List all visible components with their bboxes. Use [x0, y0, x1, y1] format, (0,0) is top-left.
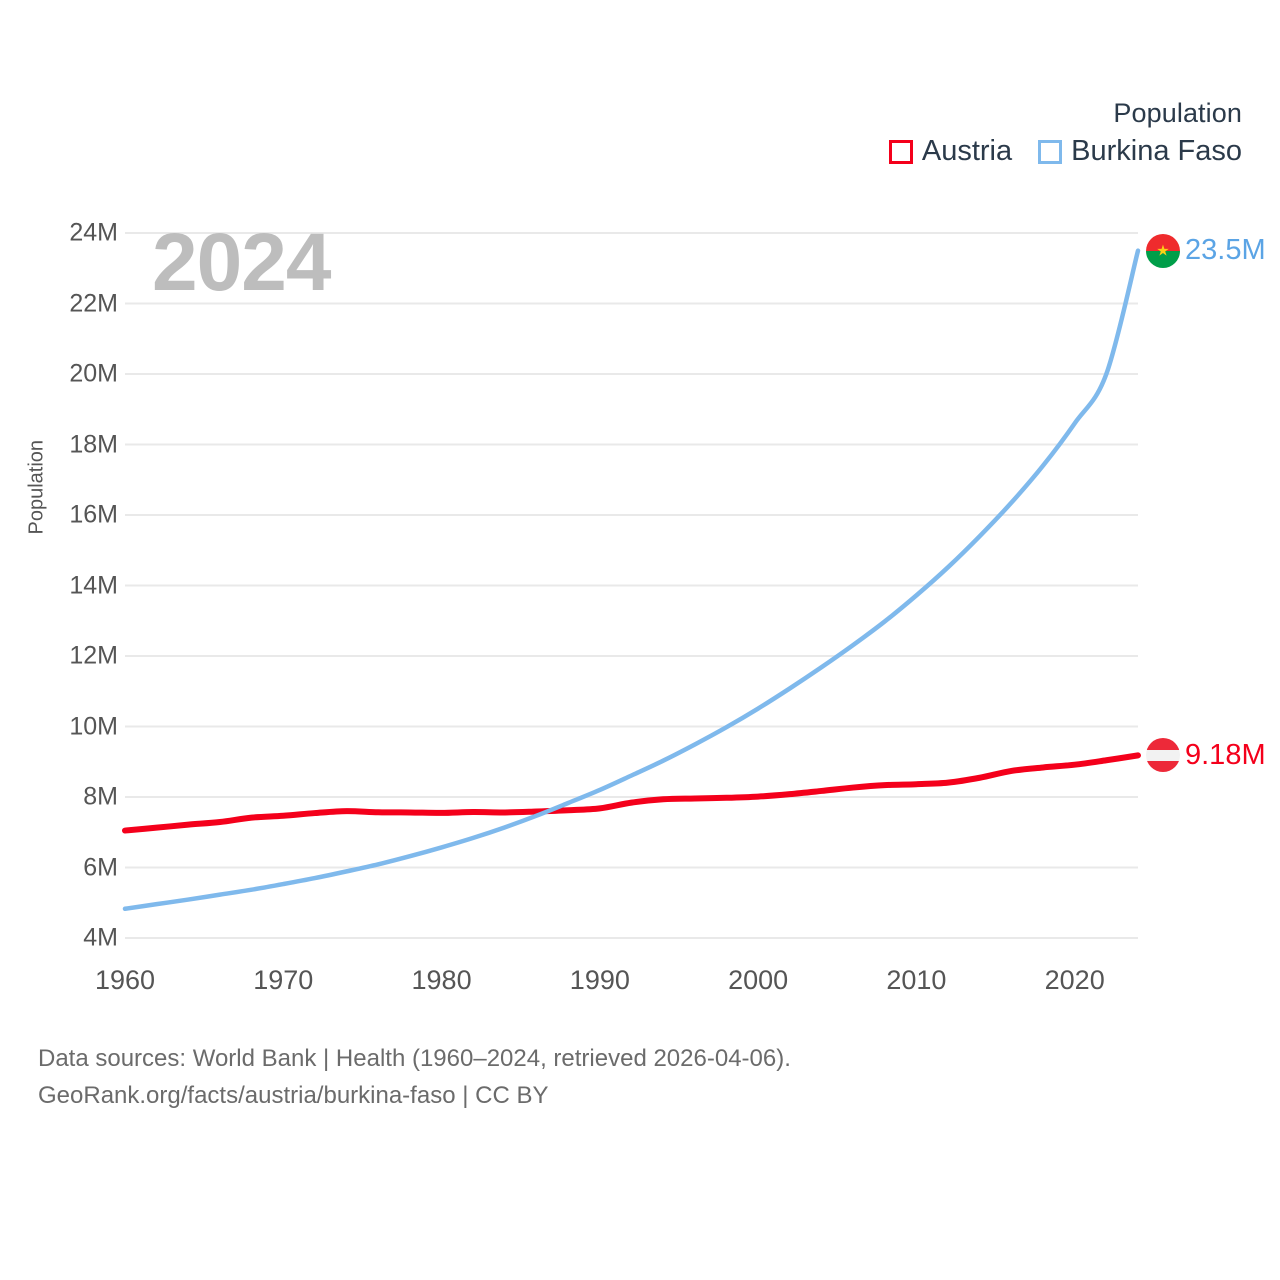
- chart-plot-area: 2024 Population 4M6M8M10M12M14M16M18M20M…: [0, 0, 1280, 1020]
- x-tick-label: 1990: [570, 965, 630, 996]
- y-tick-label: 16M: [18, 501, 118, 530]
- endpoint-austria[interactable]: 9.18M: [1146, 738, 1266, 772]
- austria-flag-icon: [1146, 738, 1180, 772]
- y-tick-label: 4M: [18, 924, 118, 953]
- y-tick-label: 6M: [18, 853, 118, 882]
- footer-line-2: GeoRank.org/facts/austria/burkina-faso |…: [38, 1077, 791, 1114]
- x-tick-label: 1980: [412, 965, 472, 996]
- y-tick-label: 8M: [18, 783, 118, 812]
- footer-line-1: Data sources: World Bank | Health (1960–…: [38, 1040, 791, 1077]
- y-axis-ticks: 4M6M8M10M12M14M16M18M20M22M24M: [8, 0, 118, 1020]
- y-tick-label: 12M: [18, 642, 118, 671]
- gridlines: [125, 233, 1138, 938]
- y-tick-label: 24M: [18, 219, 118, 248]
- year-watermark: 2024: [152, 222, 330, 304]
- y-tick-label: 14M: [18, 571, 118, 600]
- x-tick-label: 1970: [253, 965, 313, 996]
- endpoint-value-burkina-faso: 23.5M: [1185, 236, 1266, 265]
- y-tick-label: 20M: [18, 360, 118, 389]
- series-line-austria: [125, 755, 1138, 830]
- chart-svg: [0, 0, 1280, 1020]
- x-tick-label: 1960: [95, 965, 155, 996]
- burkina-faso-flag-icon: ★: [1146, 234, 1180, 268]
- x-tick-label: 2010: [886, 965, 946, 996]
- series-line-burkina-faso: [125, 251, 1138, 909]
- y-tick-label: 10M: [18, 712, 118, 741]
- endpoint-burkina-faso[interactable]: ★ 23.5M: [1146, 234, 1266, 268]
- y-tick-label: 18M: [18, 430, 118, 459]
- series-lines: [125, 251, 1138, 909]
- x-tick-label: 2000: [728, 965, 788, 996]
- footer-sources: Data sources: World Bank | Health (1960–…: [38, 1040, 791, 1114]
- y-tick-label: 22M: [18, 289, 118, 318]
- endpoint-value-austria: 9.18M: [1185, 741, 1266, 770]
- x-tick-label: 2020: [1045, 965, 1105, 996]
